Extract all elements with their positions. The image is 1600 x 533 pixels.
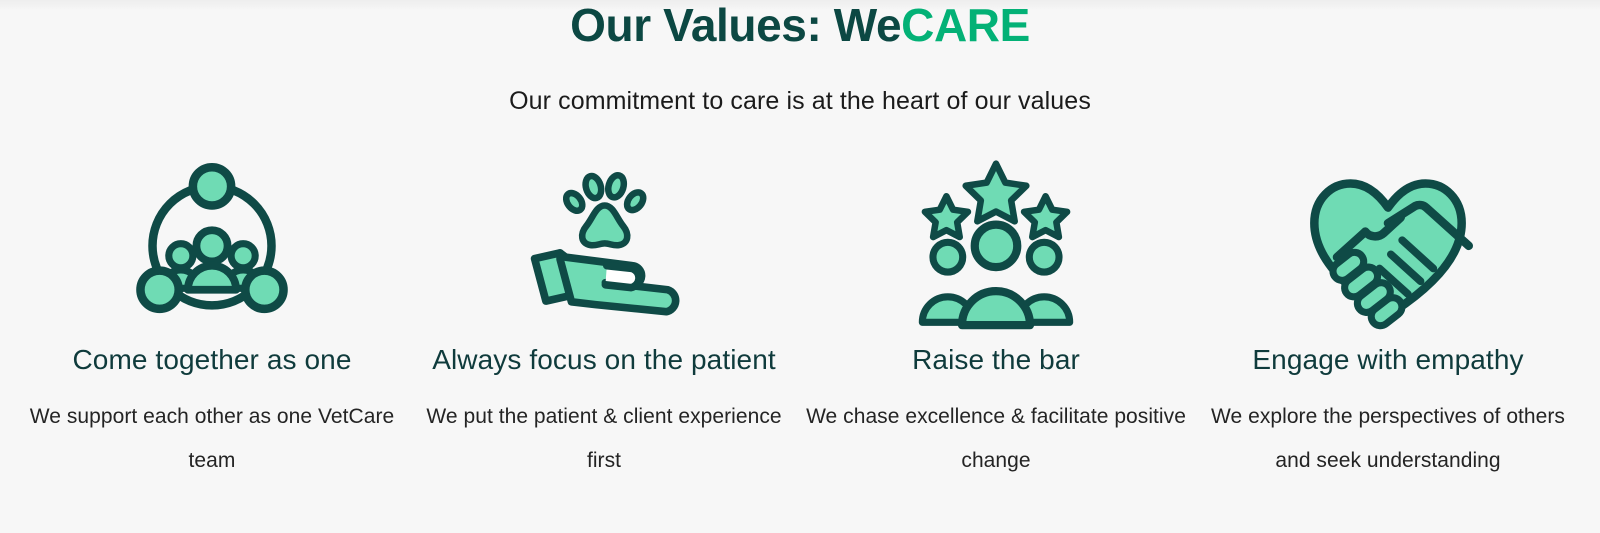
page-title-plain: Our Values: We xyxy=(570,0,901,51)
hand-paw-icon xyxy=(519,158,689,328)
page-title: Our Values: WeCARE xyxy=(0,0,1600,56)
value-description: We chase excellence & facilitate positiv… xyxy=(806,395,1186,483)
value-title: Always focus on the patient xyxy=(432,341,776,379)
heart-handshake-icon xyxy=(1303,158,1473,328)
our-values-section: Our Values: WeCARE Our commitment to car… xyxy=(0,0,1600,533)
value-title: Come together as one xyxy=(72,341,351,379)
value-card-focus-patient: Always focus on the patient We put the p… xyxy=(408,158,800,483)
page-title-accent: CARE xyxy=(901,0,1030,51)
value-description: We support each other as one VetCare tea… xyxy=(22,395,402,483)
people-stars-icon xyxy=(911,158,1081,328)
value-description: We put the patient & client experience f… xyxy=(414,395,794,483)
section-subtitle: Our commitment to care is at the heart o… xyxy=(0,84,1600,118)
values-grid: Come together as one We support each oth… xyxy=(0,158,1600,483)
value-card-raise-bar: Raise the bar We chase excellence & faci… xyxy=(800,158,1192,483)
value-title: Engage with empathy xyxy=(1252,341,1523,379)
value-card-engage-empathy: Engage with empathy We explore the persp… xyxy=(1192,158,1584,483)
section-heading: Our Values: WeCARE xyxy=(0,0,1600,56)
team-circle-icon xyxy=(127,158,297,328)
value-title: Raise the bar xyxy=(912,341,1080,379)
value-card-come-together: Come together as one We support each oth… xyxy=(16,158,408,483)
value-description: We explore the perspectives of others an… xyxy=(1198,395,1578,483)
